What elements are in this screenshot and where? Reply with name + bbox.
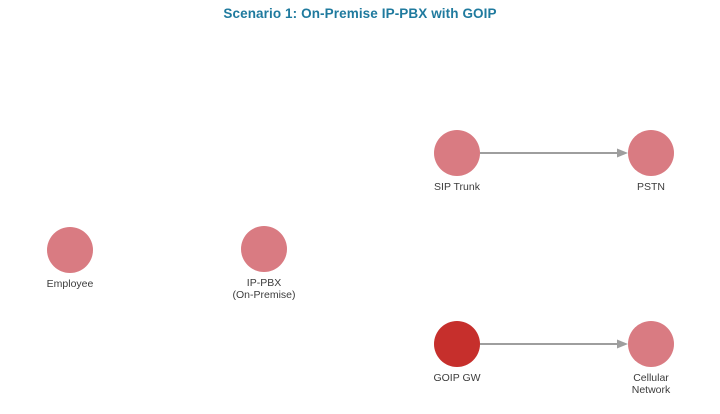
node-employee[interactable] bbox=[47, 227, 93, 273]
node-pstn[interactable] bbox=[628, 130, 674, 176]
edge-sip-trunk-to-pstn bbox=[480, 149, 628, 158]
node-goip-gw[interactable] bbox=[434, 321, 480, 367]
diagram-canvas: Scenario 1: On-Premise IP-PBX with GOIP … bbox=[0, 0, 720, 414]
node-sip-trunk[interactable] bbox=[434, 130, 480, 176]
node-cellular-network[interactable] bbox=[628, 321, 674, 367]
node-label-employee: Employee bbox=[47, 278, 94, 290]
arrowhead-icon bbox=[617, 149, 628, 158]
node-label-goip-gw: GOIP GW bbox=[433, 372, 480, 384]
node-label-ip-pbx: IP-PBX (On-Premise) bbox=[232, 277, 295, 301]
node-label-pstn: PSTN bbox=[637, 181, 665, 193]
page-title: Scenario 1: On-Premise IP-PBX with GOIP bbox=[0, 6, 720, 21]
node-label-sip-trunk: SIP Trunk bbox=[434, 181, 480, 193]
node-label-cellular-network: Cellular Network bbox=[632, 372, 671, 396]
node-ip-pbx[interactable] bbox=[241, 226, 287, 272]
edge-layer bbox=[0, 0, 720, 414]
arrowhead-icon bbox=[617, 340, 628, 349]
edge-goip-gw-to-cellular-network bbox=[480, 340, 628, 349]
